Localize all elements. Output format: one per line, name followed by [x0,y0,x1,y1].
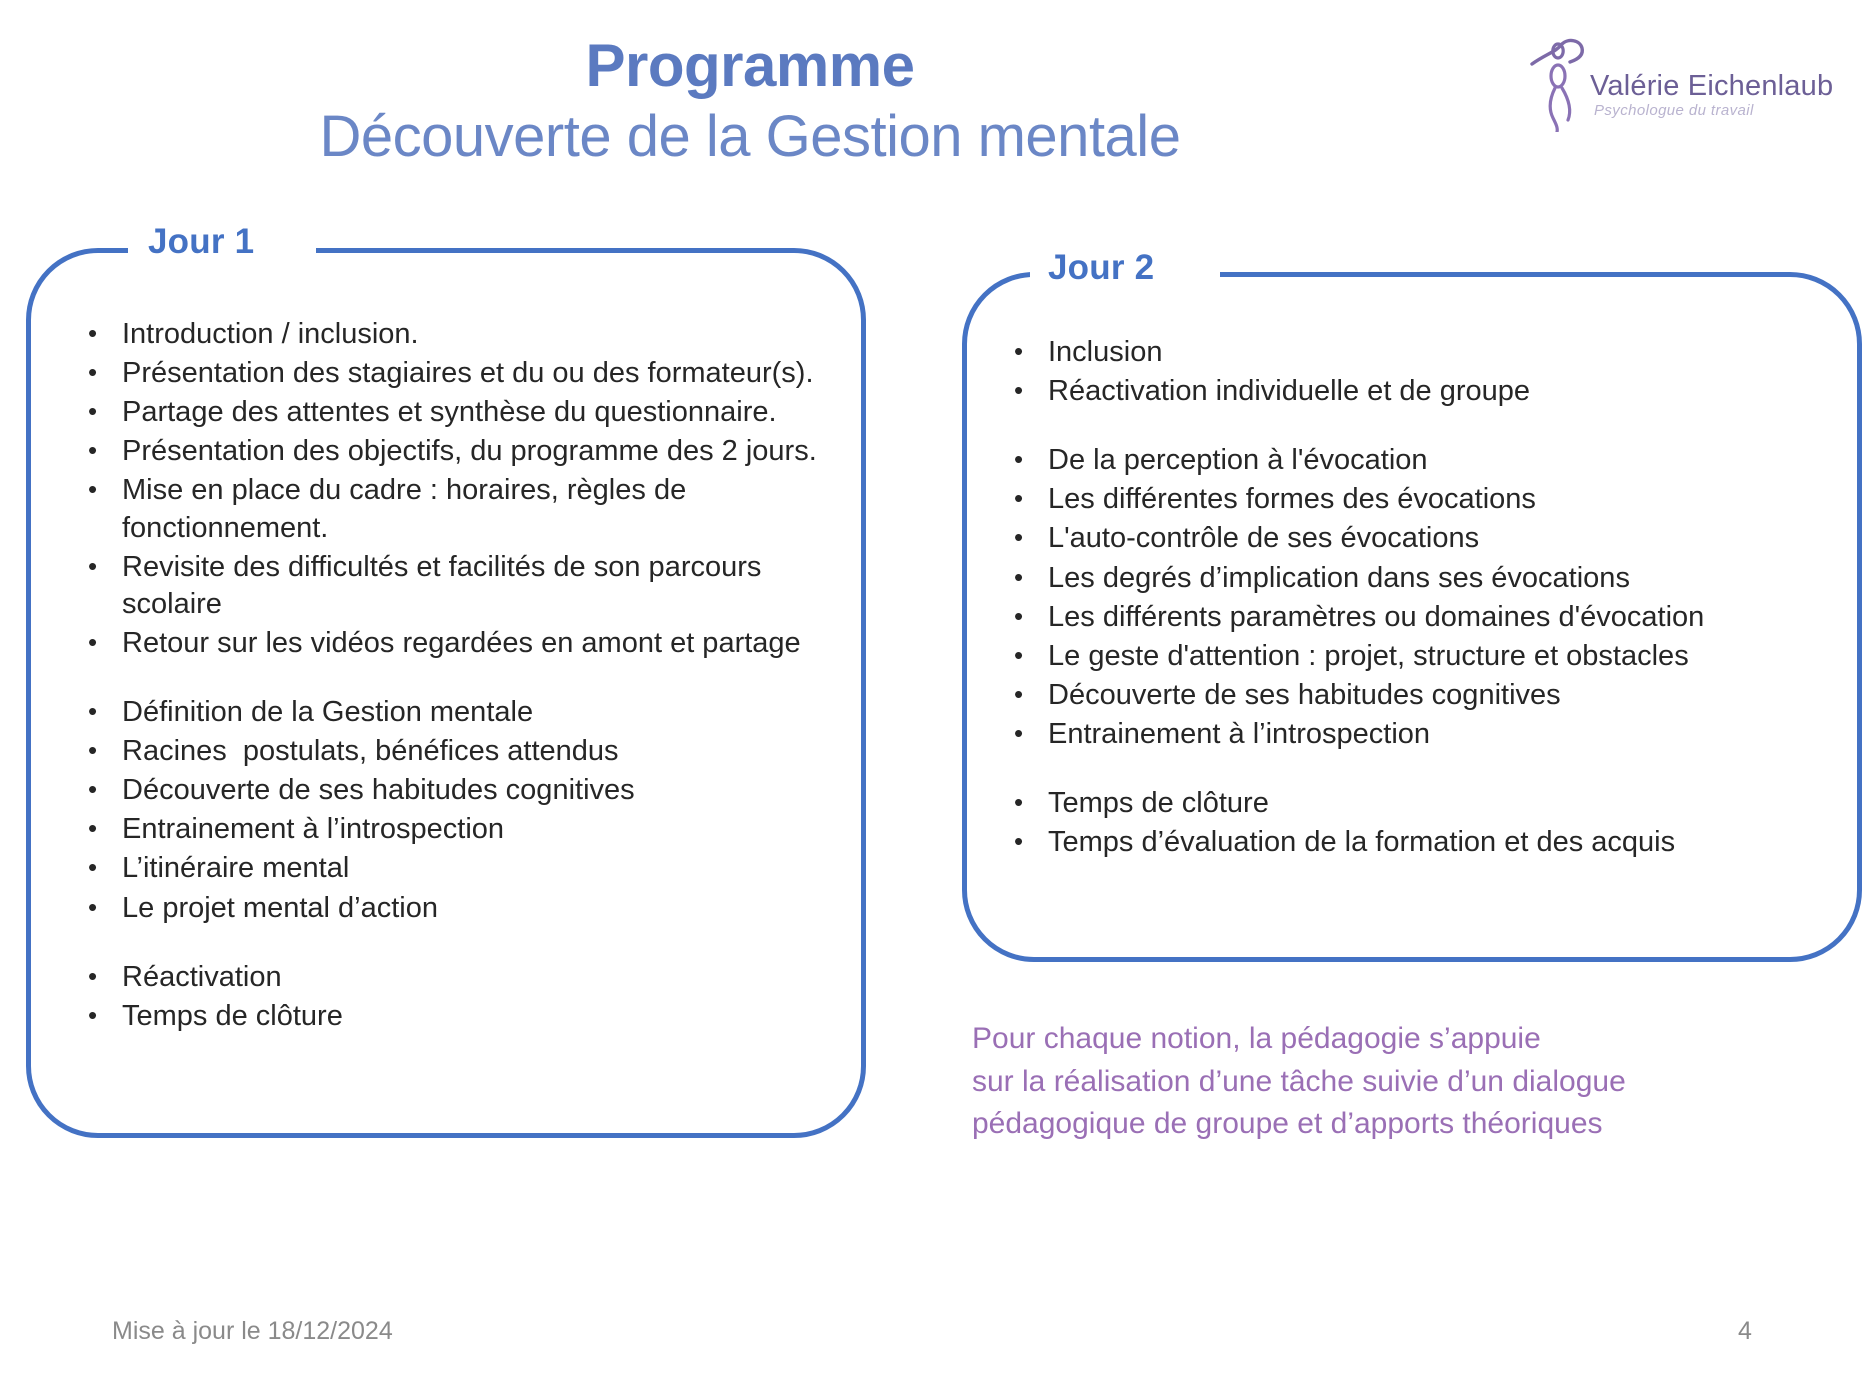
bullet-dot-icon: • [84,394,122,429]
brand-logo: Valérie Eichenlaub Psychologue du travai… [1528,36,1844,132]
list-item: •Mise en place du cadre : horaires, règl… [84,472,854,546]
bullet-dot-icon: • [84,850,122,885]
list-item-label: Le geste d'attention : projet, structure… [1048,638,1770,675]
bullet-dot-icon: • [1010,373,1048,408]
list-item: •Racines postulats, bénéfices attendus [84,733,854,770]
day-1-bullet-list: •Introduction / inclusion.•Présentation … [84,316,854,1037]
list-item: •Présentation des objectifs, du programm… [84,433,854,470]
list-item: •Entrainement à l’introspection [1010,716,1770,753]
pedagogy-note: Pour chaque notion, la pédagogie s’appui… [972,1018,1802,1146]
list-item-label: Entrainement à l’introspection [1048,716,1770,753]
list-item: •Réactivation individuelle et de groupe [1010,373,1770,410]
list-item-label: Les degrés d’implication dans ses évocat… [1048,560,1770,597]
bullet-group-spacer [1010,755,1770,785]
bullet-dot-icon: • [1010,599,1048,634]
list-item-label: Découverte de ses habitudes cognitives [1048,677,1770,714]
list-item: •De la perception à l'évocation [1010,442,1770,479]
list-item: •Partage des attentes et synthèse du que… [84,394,854,431]
list-item-label: L’itinéraire mental [122,850,854,887]
list-item-label: Partage des attentes et synthèse du ques… [122,394,854,431]
bullet-dot-icon: • [1010,785,1048,820]
bullet-group: •Inclusion•Réactivation individuelle et … [1010,334,1770,410]
list-item-label: Les différentes formes des évocations [1048,481,1770,518]
bullet-dot-icon: • [84,890,122,925]
list-item: •Entrainement à l’introspection [84,811,854,848]
list-item-label: Le projet mental d’action [122,890,854,927]
bullet-dot-icon: • [84,772,122,807]
bullet-dot-icon: • [84,959,122,994]
bullet-dot-icon: • [84,316,122,351]
bullet-dot-icon: • [84,998,122,1033]
list-item-label: Retour sur les vidéos regardées en amont… [122,625,854,662]
list-item-label: De la perception à l'évocation [1048,442,1770,479]
list-item: •Temps d’évaluation de la formation et d… [1010,824,1770,861]
person-figure-icon [1528,36,1592,132]
list-item-label: Racines postulats, bénéfices attendus [122,733,854,770]
slide-canvas: Programme Découverte de la Gestion menta… [0,0,1866,1400]
list-item: •Revisite des difficultés et facilités d… [84,549,854,623]
bullet-dot-icon: • [1010,638,1048,673]
list-item: •L'auto-contrôle de ses évocations [1010,520,1770,557]
list-item: •Les degrés d’implication dans ses évoca… [1010,560,1770,597]
bullet-dot-icon: • [84,733,122,768]
list-item-label: Présentation des objectifs, du programme… [122,433,854,470]
bullet-group-spacer [1010,412,1770,442]
logo-tagline: Psychologue du travail [1594,102,1754,119]
bullet-dot-icon: • [84,811,122,846]
list-item-label: Découverte de ses habitudes cognitives [122,772,854,809]
footer-page-number: 4 [1738,1317,1752,1346]
bullet-dot-icon: • [1010,334,1048,369]
bullet-dot-icon: • [84,625,122,660]
list-item-label: Introduction / inclusion. [122,316,854,353]
bullet-dot-icon: • [1010,824,1048,859]
list-item-label: L'auto-contrôle de ses évocations [1048,520,1770,557]
logo-name: Valérie Eichenlaub [1590,70,1833,103]
bullet-dot-icon: • [84,433,122,468]
bullet-group: •De la perception à l'évocation•Les diff… [1010,442,1770,753]
list-item-label: Revisite des difficultés et facilités de… [122,549,854,623]
page-title-block: Programme Découverte de la Gestion menta… [0,34,1500,169]
list-item: •Temps de clôture [1010,785,1770,822]
bullet-dot-icon: • [84,694,122,729]
day-2-label: Jour 2 [1048,248,1154,288]
list-item-label: Inclusion [1048,334,1770,371]
list-item: •Le projet mental d’action [84,890,854,927]
list-item-label: Temps de clôture [122,998,854,1035]
list-item: •Définition de la Gestion mentale [84,694,854,731]
list-item: •L’itinéraire mental [84,850,854,887]
list-item: •Temps de clôture [84,998,854,1035]
footer-update-date: Mise à jour le 18/12/2024 [112,1317,393,1346]
bullet-dot-icon: • [84,355,122,390]
day-1-label: Jour 1 [148,222,254,262]
list-item-label: Présentation des stagiaires et du ou des… [122,355,854,392]
bullet-group: •Temps de clôture•Temps d’évaluation de … [1010,785,1770,861]
list-item: •Réactivation [84,959,854,996]
bullet-dot-icon: • [1010,677,1048,712]
list-item-label: Temps d’évaluation de la formation et de… [1048,824,1770,861]
list-item: •Introduction / inclusion. [84,316,854,353]
bullet-dot-icon: • [1010,560,1048,595]
list-item-label: Réactivation individuelle et de groupe [1048,373,1770,410]
list-item: •Les différentes formes des évocations [1010,481,1770,518]
bullet-dot-icon: • [1010,481,1048,516]
list-item-label: Entrainement à l’introspection [122,811,854,848]
bullet-group: •Introduction / inclusion.•Présentation … [84,316,854,662]
list-item: •Découverte de ses habitudes cognitives [1010,677,1770,714]
list-item-label: Réactivation [122,959,854,996]
list-item-label: Les différents paramètres ou domaines d'… [1048,599,1770,636]
list-item: •Le geste d'attention : projet, structur… [1010,638,1770,675]
bullet-group-spacer [84,929,854,959]
bullet-dot-icon: • [1010,442,1048,477]
bullet-dot-icon: • [1010,520,1048,555]
bullet-dot-icon: • [84,472,122,507]
bullet-group: •Réactivation•Temps de clôture [84,959,854,1035]
day-2-bullet-list: •Inclusion•Réactivation individuelle et … [1010,334,1770,863]
bullet-dot-icon: • [84,549,122,584]
list-item: •Retour sur les vidéos regardées en amon… [84,625,854,662]
list-item-label: Mise en place du cadre : horaires, règle… [122,472,854,546]
list-item: •Les différents paramètres ou domaines d… [1010,599,1770,636]
bullet-dot-icon: • [1010,716,1048,751]
bullet-group-spacer [84,664,854,694]
list-item-label: Temps de clôture [1048,785,1770,822]
list-item: •Découverte de ses habitudes cognitives [84,772,854,809]
bullet-group: •Définition de la Gestion mentale•Racine… [84,694,854,927]
page-subtitle: Découverte de la Gestion mentale [0,105,1500,169]
list-item-label: Définition de la Gestion mentale [122,694,854,731]
list-item: •Présentation des stagiaires et du ou de… [84,355,854,392]
list-item: •Inclusion [1010,334,1770,371]
page-title: Programme [0,34,1500,99]
